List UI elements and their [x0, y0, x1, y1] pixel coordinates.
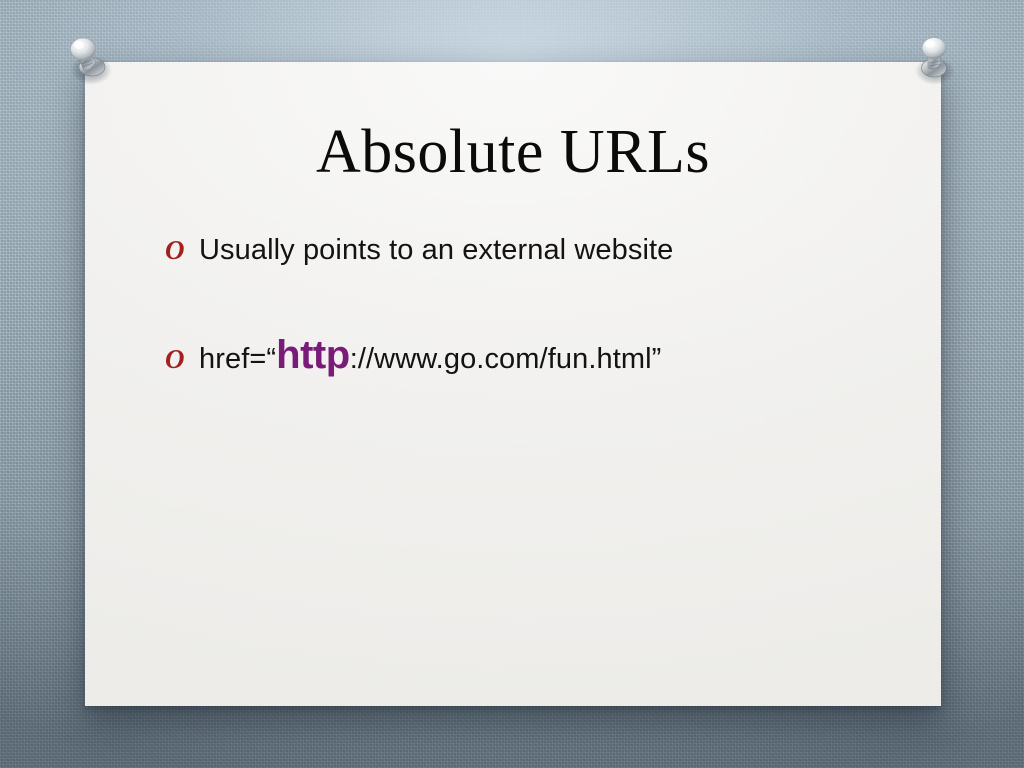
- href-attribute-prefix: href=“: [199, 343, 276, 375]
- paper-sheet: Absolute URLs O Usually points to an ext…: [85, 62, 941, 706]
- page-title: Absolute URLs: [85, 120, 941, 185]
- bullet-list: O Usually points to an external website …: [165, 232, 901, 442]
- list-item-label: href=“http://www.go.com/fun.html”: [199, 330, 901, 380]
- list-item: O href=“http://www.go.com/fun.html”: [165, 330, 901, 380]
- bullet-marker-icon: O: [165, 237, 199, 264]
- list-item-label: Usually points to an external website: [199, 232, 901, 268]
- list-item: O Usually points to an external website: [165, 232, 901, 268]
- slide-content: Absolute URLs O Usually points to an ext…: [85, 62, 941, 706]
- url-remainder: ://www.go.com/fun.html”: [350, 343, 662, 375]
- bullet-marker-icon: O: [165, 346, 199, 373]
- slide-stage: Absolute URLs O Usually points to an ext…: [0, 0, 1024, 768]
- url-scheme-emphasis: http: [276, 333, 350, 377]
